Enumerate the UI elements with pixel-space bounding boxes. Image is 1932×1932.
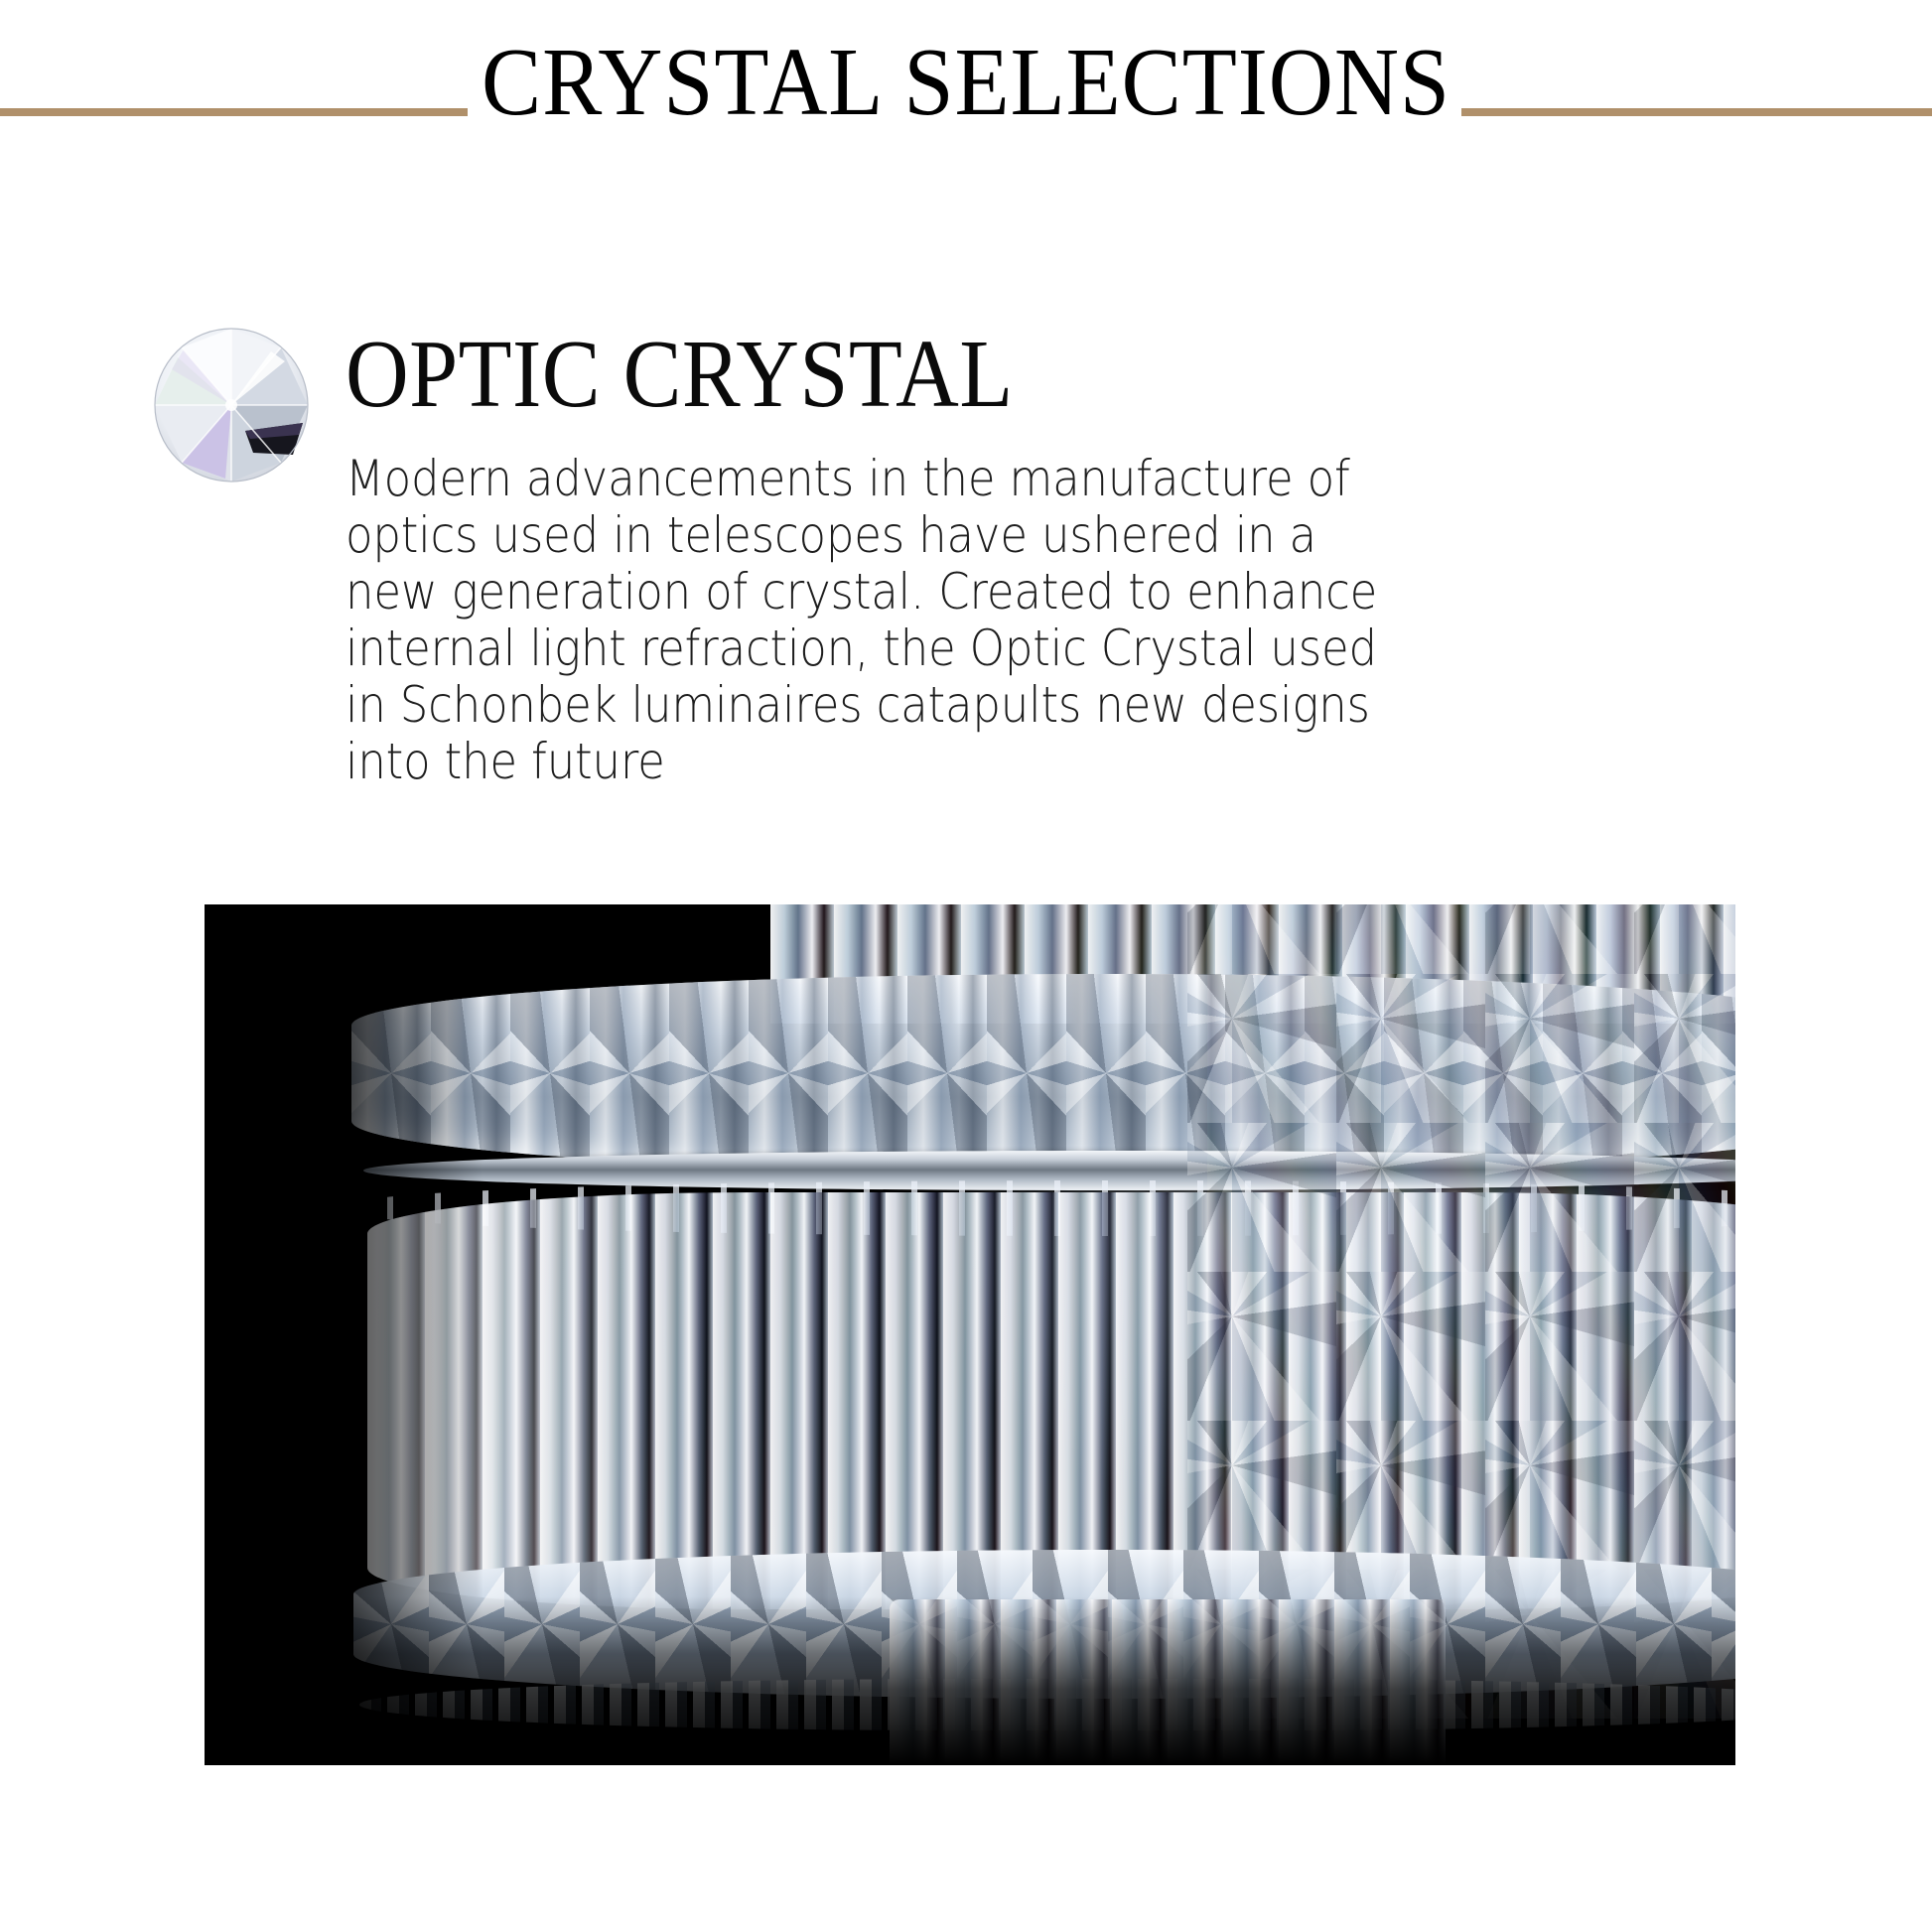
header-rule-right [1461, 108, 1932, 116]
page-header: CRYSTAL SELECTIONS [0, 0, 1932, 228]
optic-crystal-rivoli-icon [154, 328, 309, 483]
optic-crystal-chandelier-photo [205, 904, 1735, 1765]
section-text-column: OPTIC CRYSTAL Modern advancements in the… [345, 298, 1418, 790]
section-body-text: Modern advancements in the manufacture o… [345, 423, 1409, 790]
photo-bottom-vignette [205, 1596, 1735, 1765]
photo-inner [205, 904, 1735, 1765]
section-title: OPTIC CRYSTAL [345, 298, 1311, 423]
